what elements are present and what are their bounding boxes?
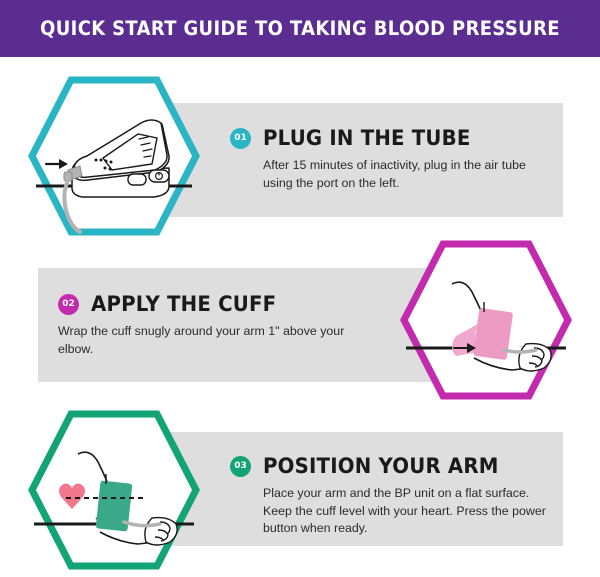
step-row-2: 02 APPLY THE CUFF Wrap the cuff snugly a… — [0, 240, 600, 400]
step-2-heading-line: 02 APPLY THE CUFF — [58, 292, 378, 316]
step-3-illustration-hexagon — [28, 410, 200, 570]
step-1-body: After 15 minutes of inactivity, plug in … — [230, 157, 550, 192]
step-3-text: 03 POSITION YOUR ARM Place your arm and … — [230, 454, 550, 538]
step-row-3: 03 POSITION YOUR ARM Place your arm and … — [0, 404, 600, 577]
step-1-text: 01 PLUG IN THE TUBE After 15 minutes of … — [230, 126, 550, 192]
step-1-number-badge: 01 — [230, 128, 251, 149]
step-3-heading: POSITION YOUR ARM — [263, 454, 499, 478]
step-1-heading-line: 01 PLUG IN THE TUBE — [230, 126, 550, 150]
page-title: QUICK START GUIDE TO TAKING BLOOD PRESSU… — [24, 0, 576, 57]
step-2-body: Wrap the cuff snugly around your arm 1" … — [58, 323, 378, 358]
step-row-1: 01 PLUG IN THE TUBE After 15 minutes of … — [0, 76, 600, 236]
step-1-heading: PLUG IN THE TUBE — [263, 126, 471, 150]
step-3-heading-line: 03 POSITION YOUR ARM — [230, 454, 550, 478]
step-1-illustration-hexagon — [28, 76, 200, 236]
step-2-text: 02 APPLY THE CUFF Wrap the cuff snugly a… — [58, 292, 378, 358]
step-3-number-badge: 03 — [230, 456, 251, 477]
step-3-body: Place your arm and the BP unit on a flat… — [230, 485, 550, 538]
step-2-heading: APPLY THE CUFF — [91, 292, 276, 316]
step-2-number-badge: 02 — [58, 294, 79, 315]
step-2-illustration-hexagon — [400, 240, 572, 400]
